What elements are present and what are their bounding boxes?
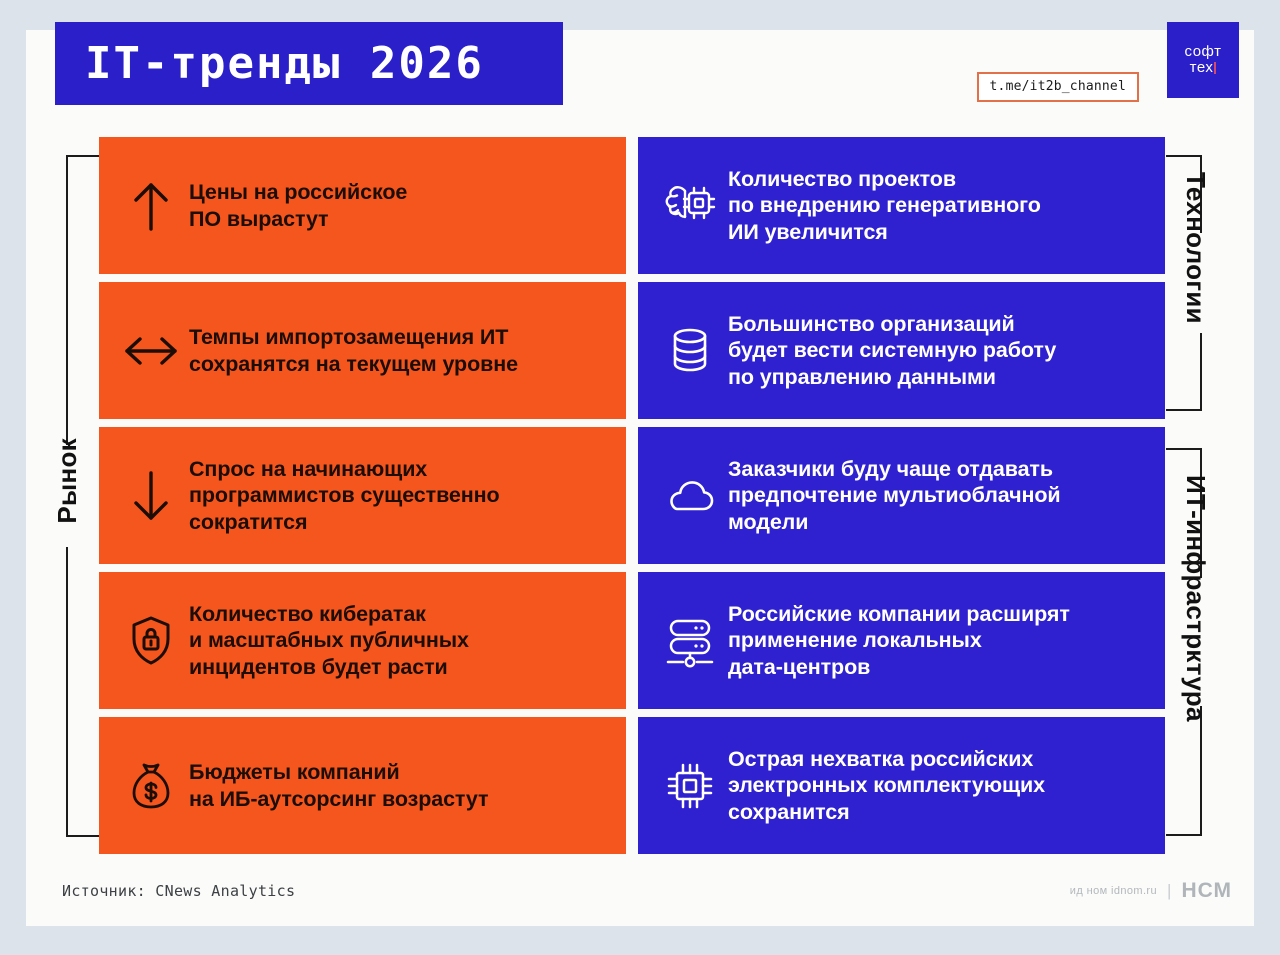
footer-separator: | [1167,881,1171,901]
trend-card-text: Спрос на начинающих программистов сущест… [189,456,500,535]
logo-line-2: тех [1190,59,1214,76]
trend-card-text: Бюджеты компаний на ИБ-аутсорсинг возрас… [189,759,488,811]
trend-card-text: Цены на российское ПО вырастут [189,179,407,231]
trend-card-tech-4[interactable]: Российские компании расширят применение … [638,572,1165,709]
money-bag-icon [113,759,189,813]
idnom-logo[interactable]: ид ном idnom.ru [1070,885,1157,897]
trend-card-market-4[interactable]: Количество кибератак и масштабных публич… [99,572,626,709]
footer-credits: ид ном idnom.ru | НСМ [1070,879,1232,903]
trend-card-text: Количество кибератак и масштабных публич… [189,601,469,680]
trend-card-tech-2[interactable]: Большинство организаций будет вести сист… [638,282,1165,419]
brain-chip-icon [652,179,728,233]
trend-card-tech-1[interactable]: Количество проектов по внедрению генерат… [638,137,1165,274]
trend-card-tech-3[interactable]: Заказчики буду чаще отдавать предпочтени… [638,427,1165,564]
arrow-down-icon [113,468,189,524]
group-label-infrastructure: ИТ-инфрастрктура [1180,475,1211,722]
trends-grid: Цены на российское ПО вырастут Количеств… [99,137,1165,854]
trend-card-market-5[interactable]: Бюджеты компаний на ИБ-аутсорсинг возрас… [99,717,626,854]
database-icon [652,324,728,378]
trend-card-market-1[interactable]: Цены на российское ПО вырастут [99,137,626,274]
server-rack-icon [652,614,728,668]
logo-line-1: софт [1185,44,1222,60]
ncm-logo[interactable]: НСМ [1181,879,1232,903]
softtech-logo[interactable]: софт тех [1167,22,1239,98]
arrow-left-right-icon [113,330,189,372]
trend-card-text: Большинство организаций будет вести сист… [728,311,1056,390]
telegram-channel-badge[interactable]: t.me/it2b_channel [977,72,1139,102]
trend-card-market-3[interactable]: Спрос на начинающих программистов сущест… [99,427,626,564]
group-label-market: Рынок [52,438,83,524]
logo-accent-mark [1214,62,1216,74]
trend-card-text: Острая нехватка российских электронных к… [728,746,1045,825]
page-title: IT-тренды 2026 [55,38,484,89]
arrow-up-icon [113,179,189,233]
trend-card-text: Заказчики буду чаще отдавать предпочтени… [728,456,1061,535]
trend-card-market-2[interactable]: Темпы импортозамещения ИТ сохранятся на … [99,282,626,419]
trend-card-tech-5[interactable]: Острая нехватка российских электронных к… [638,717,1165,854]
title-block: IT-тренды 2026 [55,22,563,105]
cloud-icon [652,475,728,517]
microchip-icon [652,760,728,812]
group-label-technology: Технологии [1180,172,1211,324]
source-note: Источник: CNews Analytics [62,882,295,900]
trend-card-text: Темпы импортозамещения ИТ сохранятся на … [189,324,518,376]
infographic-root: IT-тренды 2026 t.me/it2b_channel софт те… [0,0,1280,955]
trend-card-text: Российские компании расширят применение … [728,601,1070,680]
shield-lock-icon [113,614,189,668]
trend-card-text: Количество проектов по внедрению генерат… [728,166,1041,245]
